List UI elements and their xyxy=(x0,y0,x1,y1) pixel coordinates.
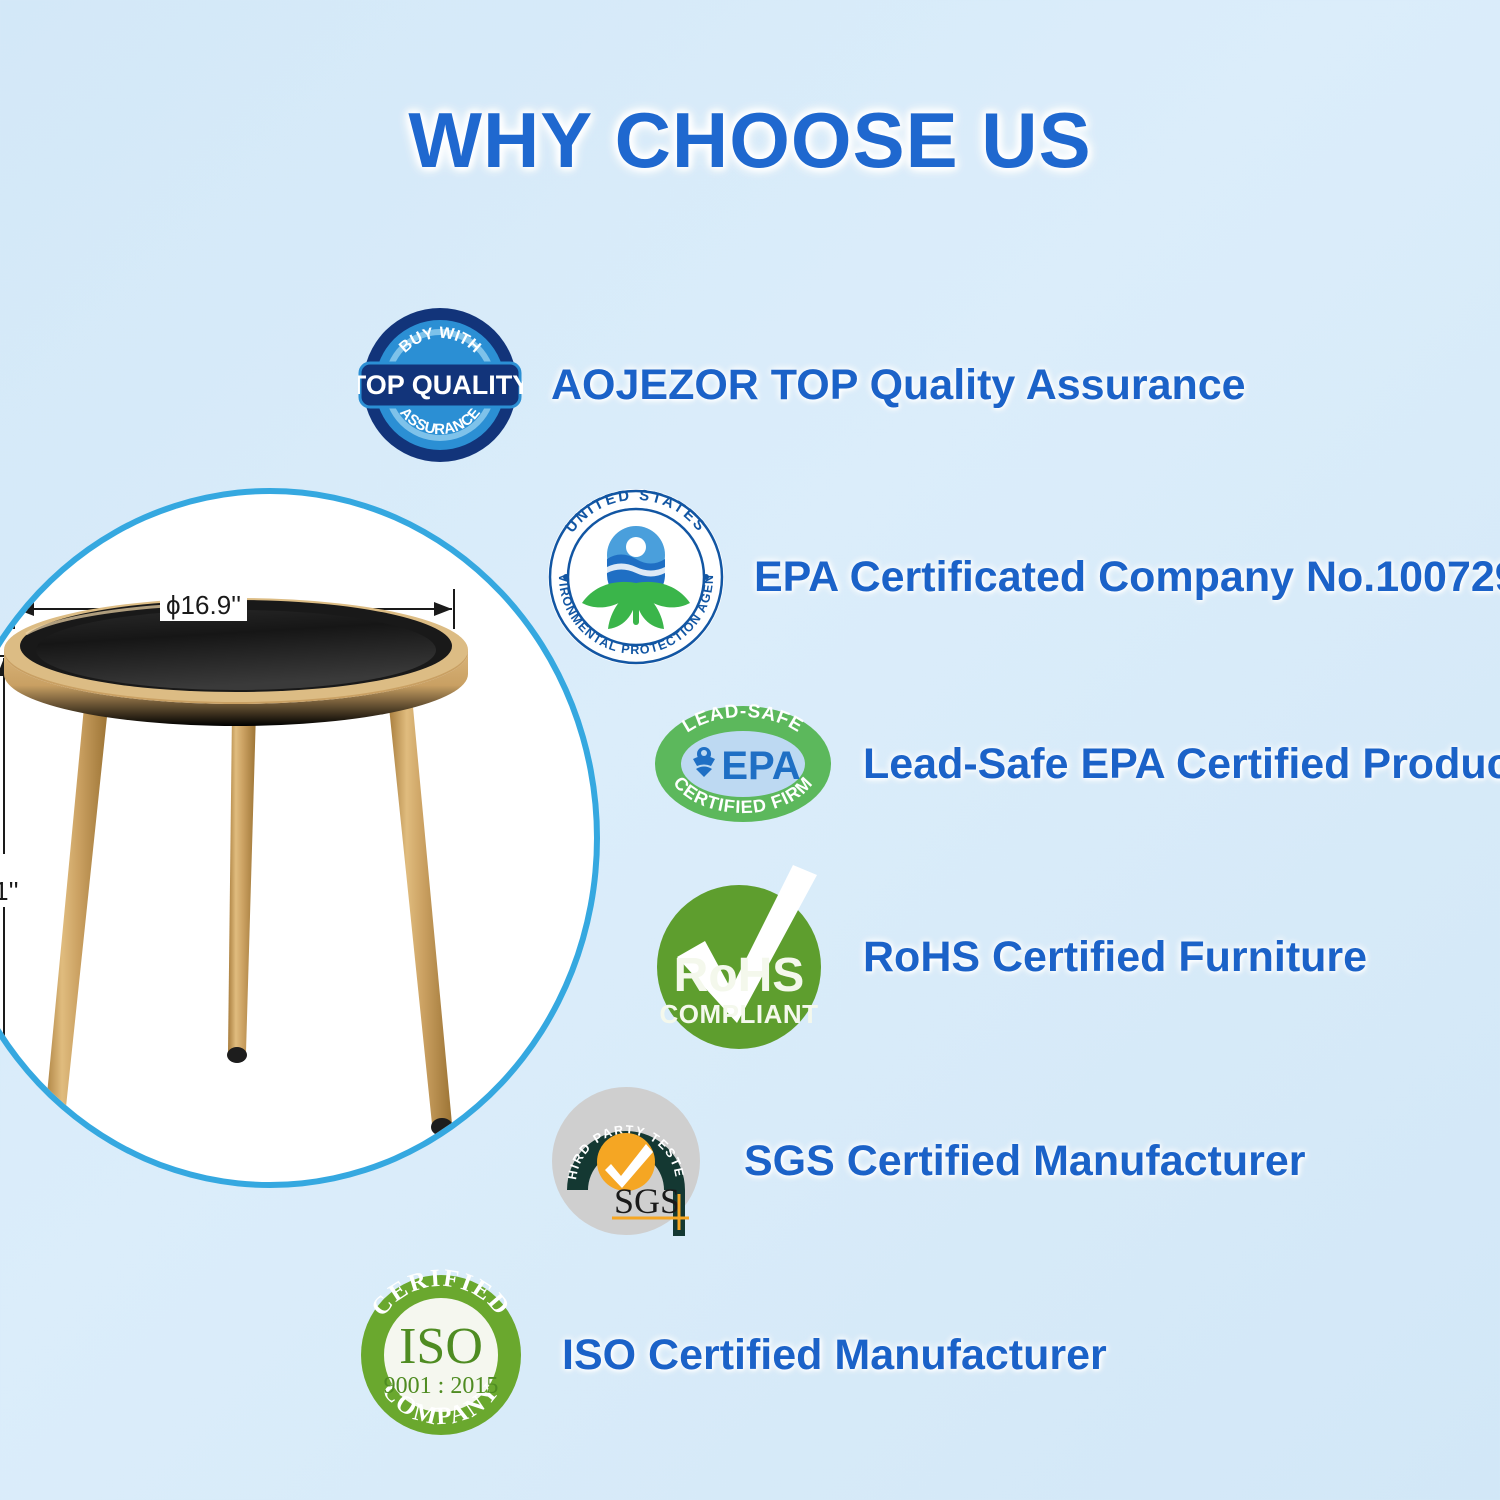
feature-row-top-quality: BUY WITH ASSURANCE TOP QUALITY AOJEZOR T… xyxy=(358,305,1246,465)
feature-row-epa-company: UNITED STATES ENVIRONMENTAL PROTECTION A… xyxy=(546,487,1500,667)
side-table-illustration xyxy=(0,494,600,1188)
feature-row-sgs: THIRD PARTY TESTED SGS SGS Certified Man… xyxy=(549,1084,1306,1239)
sgs-seal-icon: THIRD PARTY TESTED SGS xyxy=(549,1084,704,1239)
lead-safe-epa-icon: LEAD-SAFE CERTIFIED FIRM EPA xyxy=(653,703,833,825)
badge-center-text: EPA xyxy=(721,744,800,788)
badge-center-text: ISO xyxy=(399,1318,483,1375)
badge-bottom-text: COMPLIANT xyxy=(659,999,818,1029)
feature-label: ISO Certified Manufacturer xyxy=(562,1331,1107,1380)
feature-label: SGS Certified Manufacturer xyxy=(744,1137,1306,1186)
feature-label: AOJEZOR TOP Quality Assurance xyxy=(551,361,1246,410)
badge-center-sub-text: 9001 : 2015 xyxy=(384,1373,499,1399)
feature-label: Lead-Safe EPA Certified Products xyxy=(863,740,1500,789)
feature-row-rohs: RoHS COMPLIANT RoHS Certified Furniture xyxy=(655,863,1367,1051)
diameter-label: ϕ16.9'' xyxy=(160,590,247,621)
badge-center-text: RoHS xyxy=(674,949,805,1002)
badge-slot: THIRD PARTY TESTED SGS xyxy=(549,1084,704,1239)
page-title: WHY CHOOSE US xyxy=(0,95,1500,186)
badge-center-text: TOP QUALITY xyxy=(358,370,523,400)
feature-row-iso: CERIFIED COMPANY ISO 9001 : 2015 ISO Cer… xyxy=(359,1265,1107,1445)
height-label: 18.1'' xyxy=(0,876,23,907)
iso-9001-seal-icon: CERIFIED COMPANY ISO 9001 : 2015 xyxy=(359,1265,524,1445)
table-legs xyxy=(43,707,453,1138)
product-image-circle: ϕ16.9'' 18.1'' xyxy=(0,488,600,1188)
feature-label: EPA Certificated Company No.100729 xyxy=(754,553,1500,602)
badge-center-text: SGS xyxy=(614,1181,680,1221)
epa-seal-icon: UNITED STATES ENVIRONMENTAL PROTECTION A… xyxy=(546,487,726,667)
badge-slot: UNITED STATES ENVIRONMENTAL PROTECTION A… xyxy=(546,487,726,667)
feature-row-lead-safe-epa: LEAD-SAFE CERTIFIED FIRM EPA Lead-Safe E… xyxy=(653,703,1500,825)
badge-slot: BUY WITH ASSURANCE TOP QUALITY xyxy=(358,305,523,465)
rohs-compliant-icon: RoHS COMPLIANT xyxy=(655,863,827,1051)
badge-slot: LEAD-SAFE CERTIFIED FIRM EPA xyxy=(653,703,833,825)
top-quality-seal-icon: BUY WITH ASSURANCE TOP QUALITY xyxy=(358,305,523,465)
feature-label: RoHS Certified Furniture xyxy=(863,933,1367,982)
badge-slot: RoHS COMPLIANT xyxy=(655,863,827,1051)
badge-slot: CERIFIED COMPANY ISO 9001 : 2015 xyxy=(359,1265,524,1445)
